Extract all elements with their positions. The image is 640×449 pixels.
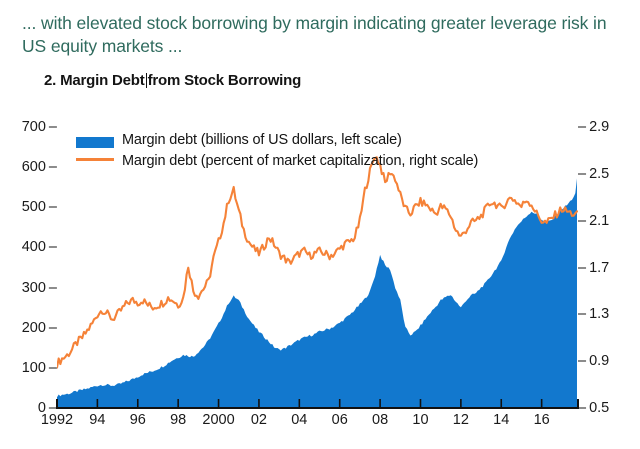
panel-number: 2. bbox=[44, 72, 56, 89]
legend-swatch-line-wrap bbox=[76, 152, 122, 162]
x-axis-tick-label: 94 bbox=[89, 412, 105, 428]
panel-title-part1: Margin Debt bbox=[60, 72, 144, 89]
x-axis-tick-label: 1992 bbox=[41, 412, 73, 428]
x-axis-tick-label: 02 bbox=[251, 412, 267, 428]
right-axis-tick-label: –2.1 bbox=[578, 213, 609, 229]
x-axis-labels: 199294969820000204060810121416 bbox=[57, 412, 578, 436]
right-axis-tick-label: –0.9 bbox=[578, 353, 609, 369]
left-axis-tick-label: 200– bbox=[22, 320, 57, 336]
left-axis-tick-label: 700– bbox=[22, 119, 57, 135]
x-axis-tick-label: 98 bbox=[170, 412, 186, 428]
x-axis-line bbox=[57, 407, 578, 409]
x-axis-tick-label: 04 bbox=[291, 412, 307, 428]
x-axis-tick-label: 14 bbox=[493, 412, 509, 428]
right-axis-tick-label: –2.9 bbox=[578, 119, 609, 135]
x-axis-tick-label: 16 bbox=[534, 412, 550, 428]
right-axis-tick-label: –0.5 bbox=[578, 400, 609, 416]
left-axis-stub bbox=[56, 399, 58, 409]
area-swatch-icon bbox=[76, 137, 114, 148]
headline-text: ... with elevated stock borrowing by mar… bbox=[22, 12, 622, 58]
text-cursor-icon bbox=[146, 73, 147, 88]
legend-label-line: Margin debt (percent of market capitaliz… bbox=[122, 152, 478, 171]
legend-item-line: Margin debt (percent of market capitaliz… bbox=[76, 152, 496, 171]
left-axis-tick-label: 100– bbox=[22, 360, 57, 376]
right-axis-tick-label: –1.7 bbox=[578, 260, 609, 276]
x-axis-tick-label: 06 bbox=[332, 412, 348, 428]
x-axis-tick-label: 2000 bbox=[202, 412, 234, 428]
left-axis-tick-label: 500– bbox=[22, 199, 57, 215]
page-title: 2. Margin Debtfrom Stock Borrowing bbox=[44, 72, 301, 89]
chart-page: ... with elevated stock borrowing by mar… bbox=[0, 0, 640, 449]
left-axis-tick-label: 300– bbox=[22, 280, 57, 296]
panel-title-part2: from Stock Borrowing bbox=[148, 72, 302, 89]
x-axis-tick-label: 12 bbox=[453, 412, 469, 428]
left-axis-tick-label: 600– bbox=[22, 159, 57, 175]
left-axis-tick-label: 400– bbox=[22, 239, 57, 255]
right-axis-tick-label: –1.3 bbox=[578, 306, 609, 322]
legend-swatch-area-wrap bbox=[76, 131, 122, 148]
x-axis-tick-label: 96 bbox=[130, 412, 146, 428]
x-axis-tick-label: 08 bbox=[372, 412, 388, 428]
area-series-blue bbox=[57, 178, 577, 408]
line-swatch-icon bbox=[76, 158, 114, 162]
left-axis-ticks: 0–100–200–300–400–500–600–700– bbox=[0, 127, 57, 408]
legend-item-area: Margin debt (billions of US dollars, lef… bbox=[76, 131, 496, 150]
right-axis-ticks: –0.5–0.9–1.3–1.7–2.1–2.5–2.9 bbox=[578, 127, 640, 408]
x-axis-tick-label: 10 bbox=[412, 412, 428, 428]
legend-label-area: Margin debt (billions of US dollars, lef… bbox=[122, 131, 402, 150]
right-axis-stub bbox=[577, 399, 579, 409]
chart-legend: Margin debt (billions of US dollars, lef… bbox=[76, 131, 496, 172]
right-axis-tick-label: –2.5 bbox=[578, 166, 609, 182]
